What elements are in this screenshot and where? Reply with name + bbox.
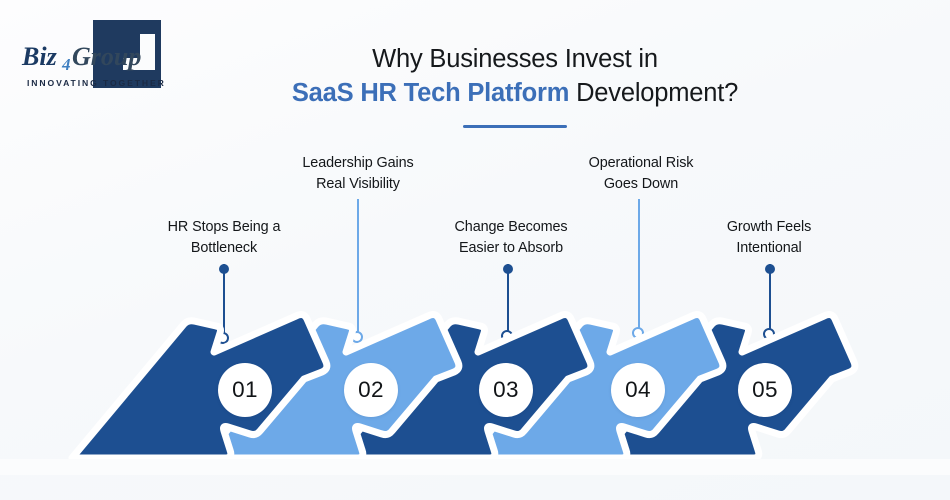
step-number-03[interactable]: 03 [479,363,533,417]
step-label-02: Leadership Gains Real Visibility [258,153,458,194]
step-label-05-line2: Intentional [669,238,869,259]
logo-wordmark: Biz 4 Group [20,40,170,74]
step-label-04: Operational Risk Goes Down [541,153,741,194]
step-label-04-line2: Goes Down [541,174,741,195]
connector-03-top-dot [503,264,513,274]
step-label-02-line2: Real Visibility [258,174,458,195]
logo-text-group: Group [72,42,141,71]
page-title: Why Businesses Invest in SaaS HR Tech Pl… [205,42,825,128]
step-label-01-line2: Bottleneck [124,238,324,259]
logo-text-four: 4 [61,55,71,74]
step-label-03-line1: Change Becomes [411,217,611,238]
arrow-sequence [0,300,950,475]
step-number-02[interactable]: 02 [344,363,398,417]
title-rest-text: Development? [569,79,738,107]
title-line-2: SaaS HR Tech Platform Development? [205,76,825,110]
arrow-sequence-svg [0,300,950,475]
title-underline [463,125,567,128]
step-label-03-line2: Easier to Absorb [411,238,611,259]
title-line-1: Why Businesses Invest in [205,42,825,76]
logo-tagline: INNOVATING TOGETHER [27,78,166,88]
step-label-02-line1: Leadership Gains [258,153,458,174]
step-label-05: Growth Feels Intentional [669,217,869,258]
step-label-05-line1: Growth Feels [669,217,869,238]
step-label-01: HR Stops Being a Bottleneck [124,217,324,258]
step-number-04[interactable]: 04 [611,363,665,417]
step-label-04-line1: Operational Risk [541,153,741,174]
infographic-canvas: Biz 4 Group INNOVATING TOGETHER Why Busi… [0,0,950,500]
step-label-03: Change Becomes Easier to Absorb [411,217,611,258]
connector-05-top-dot [765,264,775,274]
step-number-05[interactable]: 05 [738,363,792,417]
logo-text-biz: Biz [21,42,58,71]
brand-logo[interactable]: Biz 4 Group INNOVATING TOGETHER [18,14,188,94]
step-label-01-line1: HR Stops Being a [124,217,324,238]
step-number-01[interactable]: 01 [218,363,272,417]
connector-01-top-dot [219,264,229,274]
title-accent-text: SaaS HR Tech Platform [292,79,569,107]
